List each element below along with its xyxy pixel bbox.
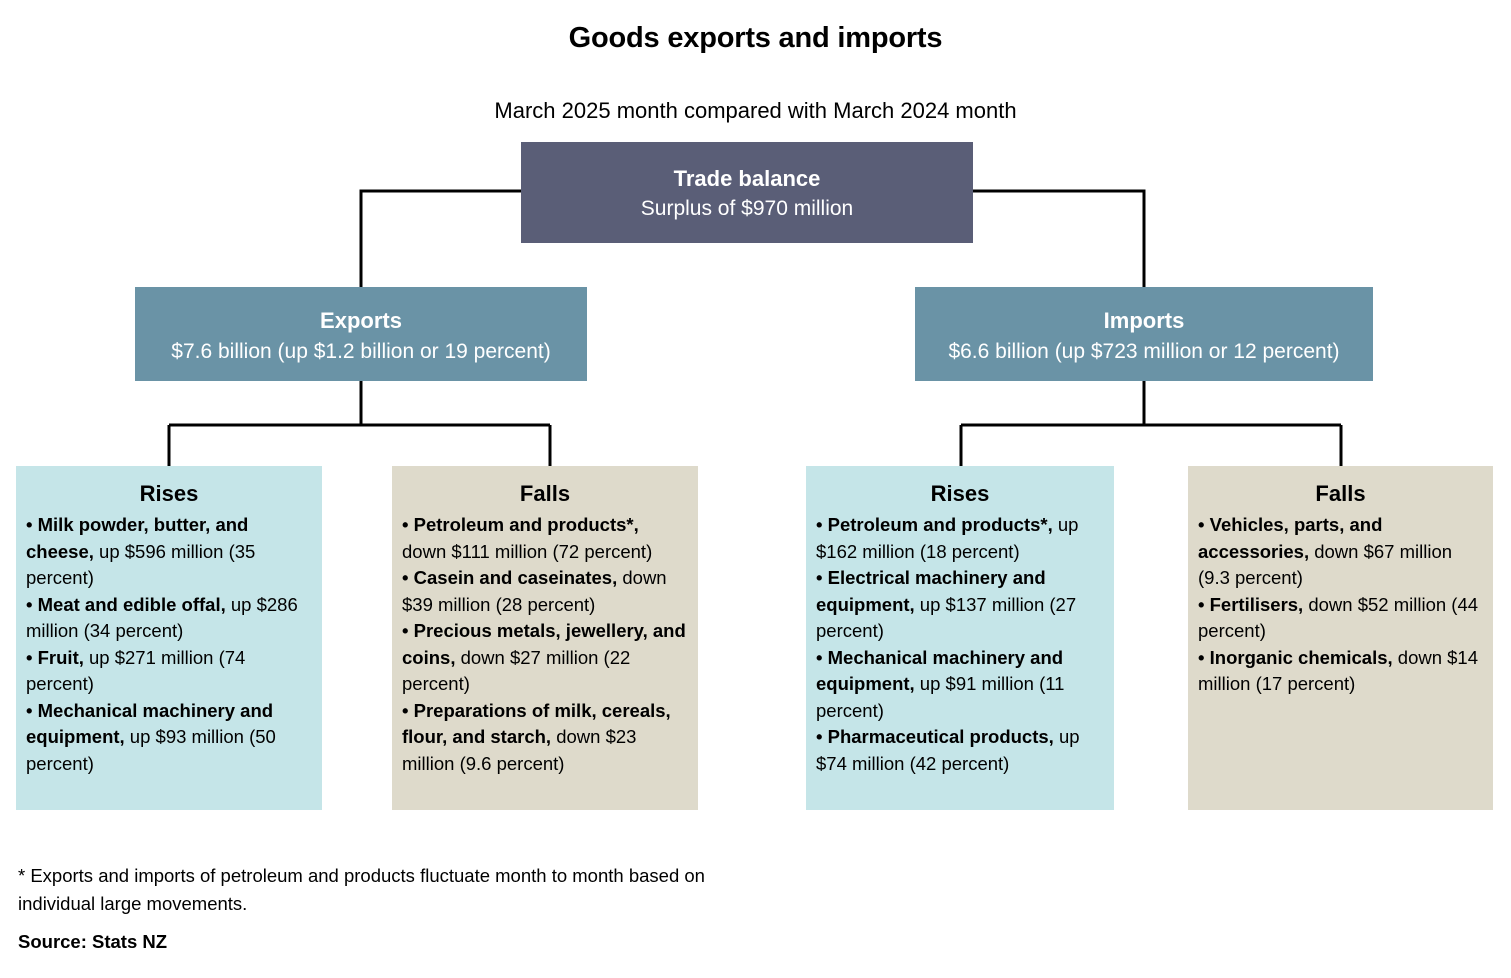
bullet-icon: • [816, 647, 828, 668]
imports-falls-list: • Vehicles, parts, and accessories, down… [1198, 512, 1483, 698]
bullet-icon: • [1198, 594, 1210, 615]
list-item: • Fruit, up $271 million (74 percent) [26, 645, 312, 698]
commodity-name: Petroleum and products*, [414, 514, 639, 535]
commodity-name: Pharmaceutical products, [828, 726, 1054, 747]
exports-box: Exports $7.6 billion (up $1.2 billion or… [135, 287, 587, 381]
imports-rises-title: Rises [816, 478, 1104, 509]
page-title: Goods exports and imports [0, 22, 1511, 55]
commodity-name: Petroleum and products*, [828, 514, 1053, 535]
list-item: • Vehicles, parts, and accessories, down… [1198, 512, 1483, 592]
trade-balance-value: Surplus of $970 million [521, 194, 973, 224]
page-subtitle: March 2025 month compared with March 202… [0, 98, 1511, 124]
bullet-icon: • [402, 700, 414, 721]
list-item: • Casein and caseinates, down $39 millio… [402, 565, 688, 618]
bullet-icon: • [816, 726, 828, 747]
imports-falls-box: Falls • Vehicles, parts, and accessories… [1188, 466, 1493, 810]
exports-rises-list: • Milk powder, butter, and cheese, up $5… [26, 512, 312, 777]
bullet-icon: • [402, 620, 414, 641]
imports-value: $6.6 billion (up $723 million or 12 perc… [915, 336, 1373, 367]
imports-title: Imports [915, 305, 1373, 336]
connector-balance-to-imports [973, 191, 1144, 287]
list-item: • Precious metals, jewellery, and coins,… [402, 618, 688, 698]
exports-rises-title: Rises [26, 478, 312, 509]
imports-rises-list: • Petroleum and products*, up $162 milli… [816, 512, 1104, 777]
list-item: • Milk powder, butter, and cheese, up $5… [26, 512, 312, 592]
exports-title: Exports [135, 305, 587, 336]
imports-rises-box: Rises • Petroleum and products*, up $162… [806, 466, 1114, 810]
list-item: • Electrical machinery and equipment, up… [816, 565, 1104, 645]
bullet-icon: • [816, 567, 828, 588]
commodity-name: Meat and edible offal, [38, 594, 226, 615]
commodity-name: Casein and caseinates, [414, 567, 618, 588]
bullet-icon: • [402, 567, 414, 588]
exports-rises-box: Rises • Milk powder, butter, and cheese,… [16, 466, 322, 810]
list-item: • Fertilisers, down $52 million (44 perc… [1198, 592, 1483, 645]
exports-falls-box: Falls • Petroleum and products*, down $1… [392, 466, 698, 810]
list-item: • Petroleum and products*, up $162 milli… [816, 512, 1104, 565]
list-item: • Meat and edible offal, up $286 million… [26, 592, 312, 645]
trade-balance-title: Trade balance [521, 164, 973, 194]
commodity-name: Fertilisers, [1210, 594, 1304, 615]
list-item: • Mechanical machinery and equipment, up… [26, 698, 312, 778]
list-item: • Mechanical machinery and equipment, up… [816, 645, 1104, 725]
bullet-icon: • [402, 514, 414, 535]
imports-box: Imports $6.6 billion (up $723 million or… [915, 287, 1373, 381]
list-item: • Pharmaceutical products, up $74 millio… [816, 724, 1104, 777]
bullet-icon: • [1198, 647, 1210, 668]
commodity-name: Fruit, [38, 647, 84, 668]
bullet-icon: • [816, 514, 828, 535]
imports-falls-title: Falls [1198, 478, 1483, 509]
footnote: * Exports and imports of petroleum and p… [18, 862, 718, 918]
list-item: • Petroleum and products*, down $111 mil… [402, 512, 688, 565]
bullet-icon: • [26, 514, 38, 535]
exports-falls-title: Falls [402, 478, 688, 509]
exports-value: $7.6 billion (up $1.2 billion or 19 perc… [135, 336, 587, 367]
bullet-icon: • [26, 594, 38, 615]
source-label: Source: Stats NZ [18, 931, 167, 953]
connector-balance-to-exports [361, 191, 521, 287]
bullet-icon: • [26, 700, 38, 721]
exports-falls-list: • Petroleum and products*, down $111 mil… [402, 512, 688, 777]
commodity-change: down $111 million (72 percent) [402, 541, 652, 562]
list-item: • Preparations of milk, cereals, flour, … [402, 698, 688, 778]
commodity-name: Inorganic chemicals, [1210, 647, 1393, 668]
trade-balance-box: Trade balance Surplus of $970 million [521, 142, 973, 243]
bullet-icon: • [1198, 514, 1210, 535]
bullet-icon: • [26, 647, 38, 668]
list-item: • Inorganic chemicals, down $14 million … [1198, 645, 1483, 698]
